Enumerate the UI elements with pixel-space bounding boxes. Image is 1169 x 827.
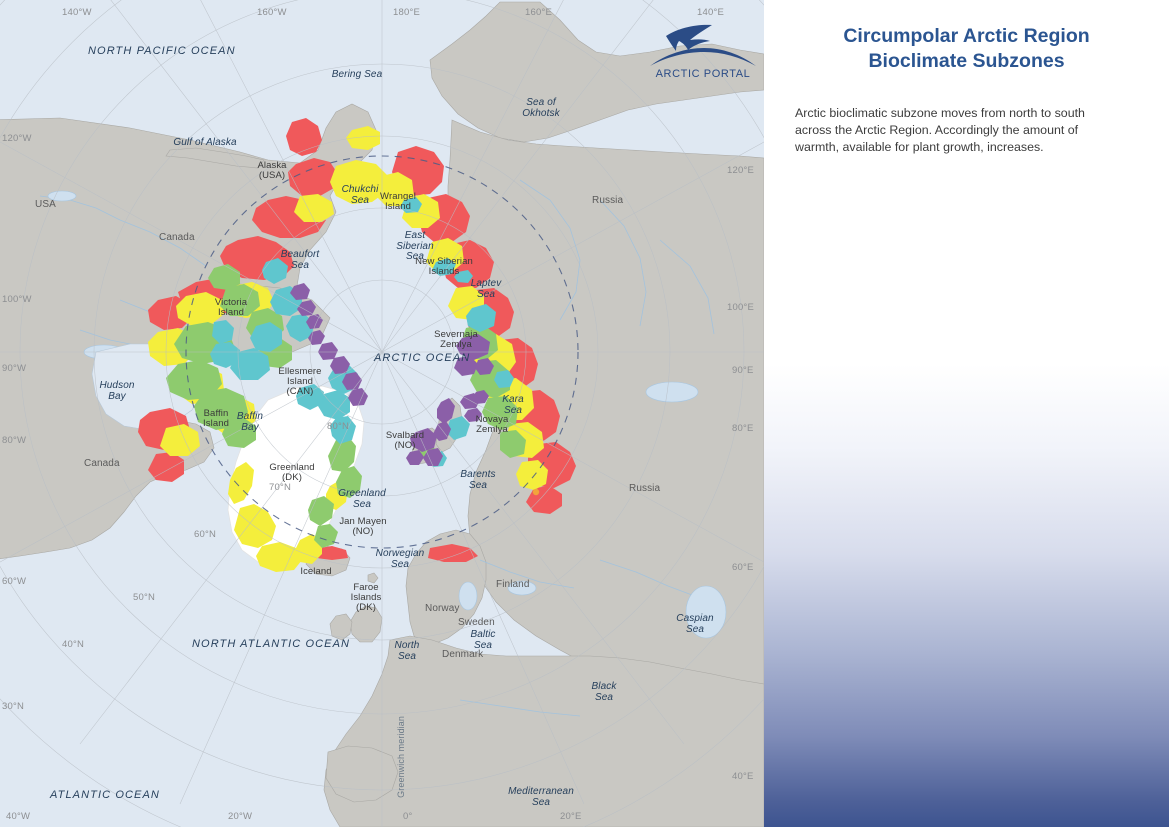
- page-title: Circumpolar Arctic Region Bioclimate Sub…: [764, 24, 1169, 74]
- arctic-map-graphic: [0, 0, 764, 827]
- page-title-line2: Bioclimate Subzones: [764, 49, 1169, 74]
- map-panel[interactable]: NORTH PACIFIC OCEANARCTIC OCEANNORTH ATL…: [0, 0, 764, 827]
- arctic-portal-map-logo-text: ARCTIC PORTAL: [648, 68, 758, 80]
- description-text: Arctic bioclimatic subzone moves from no…: [795, 105, 1107, 156]
- page-title-line1: Circumpolar Arctic Region: [764, 24, 1169, 49]
- arctic-bioclimate-map-page: NORTH PACIFIC OCEANARCTIC OCEANNORTH ATL…: [0, 0, 1169, 827]
- arctic-tern-icon: [648, 22, 758, 72]
- side-panel: Circumpolar Arctic Region Bioclimate Sub…: [764, 0, 1169, 827]
- arctic-portal-map-logo: ARCTIC PORTAL: [648, 22, 758, 84]
